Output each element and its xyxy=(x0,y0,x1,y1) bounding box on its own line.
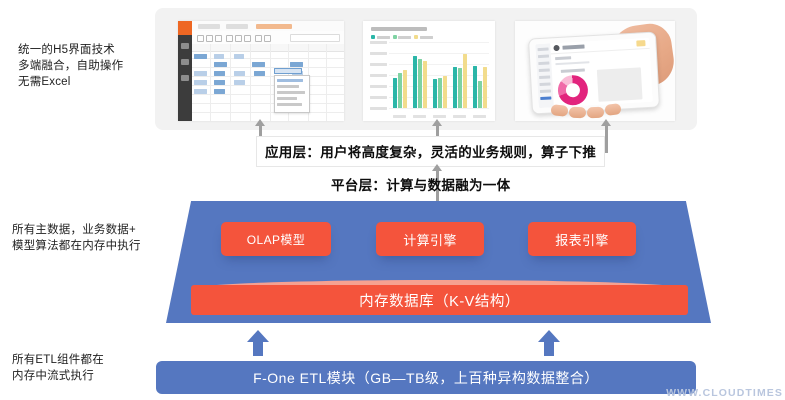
rail-folder-icon xyxy=(181,59,189,65)
chart-bar xyxy=(453,67,457,108)
chart-bar-group xyxy=(433,76,447,108)
table-row xyxy=(214,71,225,76)
legend-label xyxy=(377,36,390,39)
tab-edit xyxy=(226,24,248,29)
legend-item xyxy=(393,35,412,39)
ribbon-format-icon xyxy=(264,35,271,42)
arrow-up-etl-left xyxy=(247,330,269,356)
chart-bar-group xyxy=(453,54,467,108)
chart-gridline xyxy=(389,108,489,109)
chart-bar xyxy=(403,70,407,108)
sidebar-item-analysis xyxy=(539,68,550,72)
sidebar-item-tasks xyxy=(539,82,550,86)
y-tick-label xyxy=(370,52,387,55)
table-row xyxy=(214,62,227,67)
chart-bar xyxy=(398,73,402,108)
chart-plot-area xyxy=(389,43,489,109)
ribbon-bold-icon xyxy=(215,35,222,42)
table-row xyxy=(194,71,207,76)
side-label-etl: 所有ETL组件都在 内存中流式执行 xyxy=(12,352,162,384)
y-tick-label xyxy=(370,63,387,66)
chart-gridline xyxy=(389,42,489,43)
page-title xyxy=(562,44,584,49)
column-header-row xyxy=(192,44,344,52)
sidebar-item-models xyxy=(539,75,550,79)
tablet-device xyxy=(528,31,660,114)
detail-panel xyxy=(597,67,643,101)
table-row xyxy=(252,62,265,67)
y-tick-label xyxy=(370,107,387,110)
app-logo-icon xyxy=(178,21,192,35)
chart-bar xyxy=(433,79,437,108)
ribbon-paste-icon xyxy=(206,35,213,42)
list-item[interactable] xyxy=(277,103,302,106)
chart-bar xyxy=(413,56,417,108)
chart-bar-group xyxy=(413,56,427,108)
ribbon-filter-icon xyxy=(235,35,242,42)
chart-bar xyxy=(423,61,427,108)
sidebar-item-alerts xyxy=(540,89,551,93)
engine-olap-model[interactable]: OLAP模型 xyxy=(221,222,331,256)
table-row xyxy=(234,71,245,76)
donut-chart xyxy=(557,74,589,106)
spreadsheet-left-rail xyxy=(178,21,192,121)
list-item[interactable] xyxy=(277,85,299,88)
x-tick-label xyxy=(433,115,446,118)
ribbon-sum-icon xyxy=(244,35,251,42)
ui-showcase-panel xyxy=(155,8,697,130)
section-subtext xyxy=(555,61,589,65)
platform-layer-block: OLAP模型 计算引擎 报表引擎 内存数据库（K-V结构） xyxy=(166,201,711,323)
sidebar-item-data xyxy=(538,61,549,65)
avatar xyxy=(553,45,559,51)
tab-file xyxy=(198,24,220,29)
selected-cell[interactable] xyxy=(274,68,302,74)
etl-module-bar[interactable]: F-One ETL模块（GB—TB级，上百种异构数据整合） xyxy=(156,361,696,394)
spreadsheet-ribbon xyxy=(192,31,344,45)
legend-label xyxy=(420,36,433,39)
ribbon-align-icon xyxy=(226,35,233,42)
chart-bar xyxy=(458,68,462,108)
table-row xyxy=(214,80,225,85)
chart-bar-group xyxy=(473,66,487,108)
x-tick-label xyxy=(413,115,426,118)
caption-platform-layer: 平台层：计算与数据融为一体 xyxy=(331,174,510,194)
legend-item xyxy=(414,35,433,39)
diagram-canvas: 统一的H5界面技术 多端融合，自助操作 无需Excel 所有主数据，业务数据+ … xyxy=(0,0,785,400)
chart-bar xyxy=(463,54,467,108)
y-tick-label xyxy=(370,85,387,88)
engine-report[interactable]: 报表引擎 xyxy=(528,222,636,256)
chart-bar xyxy=(478,81,482,108)
sidebar-item-reports xyxy=(538,54,549,58)
tablet-screen xyxy=(535,38,652,108)
table-row xyxy=(194,89,207,94)
list-item[interactable] xyxy=(277,79,303,82)
caption-application-layer: 应用层：用户将高度复杂，灵活的业务规则，算子下推 xyxy=(256,136,605,167)
tab-active-sheet xyxy=(256,24,292,29)
in-memory-database-block: 内存数据库（K-V结构） xyxy=(191,280,688,315)
table-row xyxy=(194,54,207,59)
tablet-dashboard-photo xyxy=(515,21,675,121)
y-tick-label xyxy=(370,96,387,99)
rail-settings-icon xyxy=(181,75,189,81)
table-row xyxy=(194,80,207,85)
sidebar-item-home xyxy=(538,47,549,51)
sidebar-item-settings xyxy=(540,96,551,100)
list-item[interactable] xyxy=(277,97,297,100)
table-row xyxy=(290,62,303,67)
y-tick-label xyxy=(370,74,387,77)
chart-bar xyxy=(473,66,477,108)
x-tick-label xyxy=(393,115,406,118)
database-label: 内存数据库（K-V结构） xyxy=(191,285,688,315)
chart-bar xyxy=(393,78,397,108)
chart-bar-group xyxy=(393,70,407,108)
legend-swatch xyxy=(414,35,418,39)
spreadsheet-grid[interactable] xyxy=(192,44,344,121)
table-row xyxy=(214,54,224,59)
chart-gridline xyxy=(389,53,489,54)
ribbon-copy-icon xyxy=(197,35,204,42)
formula-input[interactable] xyxy=(290,34,340,42)
dashboard-header xyxy=(550,38,649,55)
side-label-memory: 所有主数据，业务数据+ 模型算法都在内存中执行 xyxy=(12,222,170,254)
finger-icon xyxy=(569,107,586,119)
table-row xyxy=(254,71,265,76)
table-row xyxy=(234,80,245,85)
watermark: WWW.CLOUDTIMES xyxy=(666,387,783,399)
bar-chart-screenshot xyxy=(363,21,495,121)
ribbon-chart-icon xyxy=(255,35,262,42)
chart-bar xyxy=(438,78,442,108)
chart-title xyxy=(371,27,427,31)
y-tick-label xyxy=(370,41,387,44)
legend-swatch xyxy=(393,35,397,39)
chart-bar xyxy=(483,67,487,108)
table-row xyxy=(234,54,244,59)
table-row xyxy=(214,89,225,94)
finger-icon xyxy=(550,104,568,117)
cell-dropdown-menu[interactable] xyxy=(274,75,310,113)
finger-icon xyxy=(587,107,605,119)
spreadsheet-app-screenshot xyxy=(178,21,344,121)
chart-bar xyxy=(418,59,422,108)
chart-legend xyxy=(371,35,433,39)
list-item[interactable] xyxy=(277,91,305,94)
arrow-up-etl-right xyxy=(538,330,560,356)
status-badge xyxy=(636,40,645,46)
side-label-ui: 统一的H5界面技术 多端融合，自助操作 无需Excel xyxy=(18,42,168,90)
finger-icon xyxy=(604,103,621,116)
chart-bar xyxy=(443,76,447,108)
section-label xyxy=(555,56,571,60)
engine-compute[interactable]: 计算引擎 xyxy=(376,222,484,256)
legend-item xyxy=(371,35,390,39)
legend-label xyxy=(398,36,411,39)
rail-menu-icon xyxy=(181,43,189,49)
donut-chart-label xyxy=(561,69,585,73)
x-tick-label xyxy=(473,115,486,118)
legend-swatch xyxy=(371,35,375,39)
x-tick-label xyxy=(453,115,466,118)
